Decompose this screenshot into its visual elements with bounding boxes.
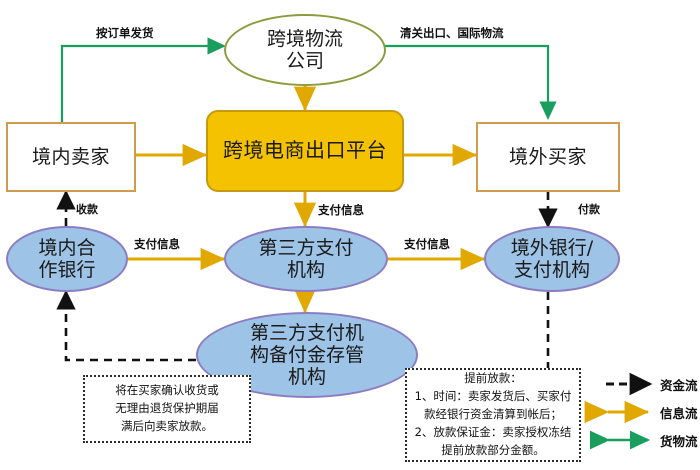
legend-label: 货物流 xyxy=(660,431,698,450)
node-label: 境内合 作银行 xyxy=(38,237,95,281)
edge-label-ship-by-order: 按订单发货 xyxy=(96,25,154,41)
legend-item-goods-flow: 货物流 xyxy=(604,426,698,454)
goods-flow-logistics-to-buyer xyxy=(385,46,548,118)
fund-flow-escrow-to-domesticbank xyxy=(66,292,196,360)
diagram-canvas: 跨境物流 公司 境内卖家 跨境电商出口平台 境外买家 境内合 作银行 第三方支付… xyxy=(0,0,700,470)
node-overseas-bank-payment-institution[interactable]: 境外银行/ 支付机构 xyxy=(484,226,620,292)
legend-item-info-flow: 信息流 xyxy=(604,398,698,426)
edge-label-payment-info-left: 支付信息 xyxy=(134,236,180,252)
node-label: 第三方支付 机构 xyxy=(258,237,353,281)
node-label: 跨境物流 公司 xyxy=(267,28,343,72)
node-cross-border-logistics-company[interactable]: 跨境物流 公司 xyxy=(224,14,386,86)
fund-flow-overseasbank-to-escrow xyxy=(417,292,548,378)
note-text: 提前放款： 1、时间：卖家发货后、买家付 款经银行资金清算到帐后； 2、放款保证… xyxy=(415,370,572,459)
node-overseas-buyer[interactable]: 境外买家 xyxy=(476,122,620,192)
legend-label: 信息流 xyxy=(660,403,698,422)
node-third-party-payment-institution[interactable]: 第三方支付 机构 xyxy=(224,226,388,292)
node-domestic-partner-bank[interactable]: 境内合 作银行 xyxy=(6,226,128,292)
legend: 资金流 信息流 货物流 xyxy=(604,370,698,454)
legend-label: 资金流 xyxy=(660,375,698,394)
edge-label-customs-export: 清关出口、国际物流 xyxy=(400,25,504,41)
note-early-release-rules: 提前放款： 1、时间：卖家发货后、买家付 款经银行资金清算到帐后； 2、放款保证… xyxy=(405,368,581,462)
node-cross-border-export-platform[interactable]: 跨境电商出口平台 xyxy=(206,110,404,192)
note-text: 将在买家确认收货或 无理由退货保护期届 满后向卖家放款。 xyxy=(115,382,219,435)
node-label: 跨境电商出口平台 xyxy=(223,139,387,162)
node-label: 境外买家 xyxy=(509,146,587,168)
node-label: 境内卖家 xyxy=(32,146,110,168)
goods-flow-seller-to-logistics xyxy=(62,46,224,122)
node-label: 境外银行/ 支付机构 xyxy=(511,237,593,281)
edge-label-payment-info-platform: 支付信息 xyxy=(318,202,364,218)
note-release-funds-condition: 将在买家确认收货或 无理由退货保护期届 满后向卖家放款。 xyxy=(83,375,251,443)
node-domestic-seller[interactable]: 境内卖家 xyxy=(6,122,136,192)
legend-item-fund-flow: 资金流 xyxy=(604,370,698,398)
node-label: 第三方支付机 构备付金存管 机构 xyxy=(250,322,364,388)
edge-label-receive-payment: 收款 xyxy=(76,201,98,217)
edge-label-make-payment: 付款 xyxy=(578,201,600,217)
edge-label-payment-info-right: 支付信息 xyxy=(404,236,450,252)
